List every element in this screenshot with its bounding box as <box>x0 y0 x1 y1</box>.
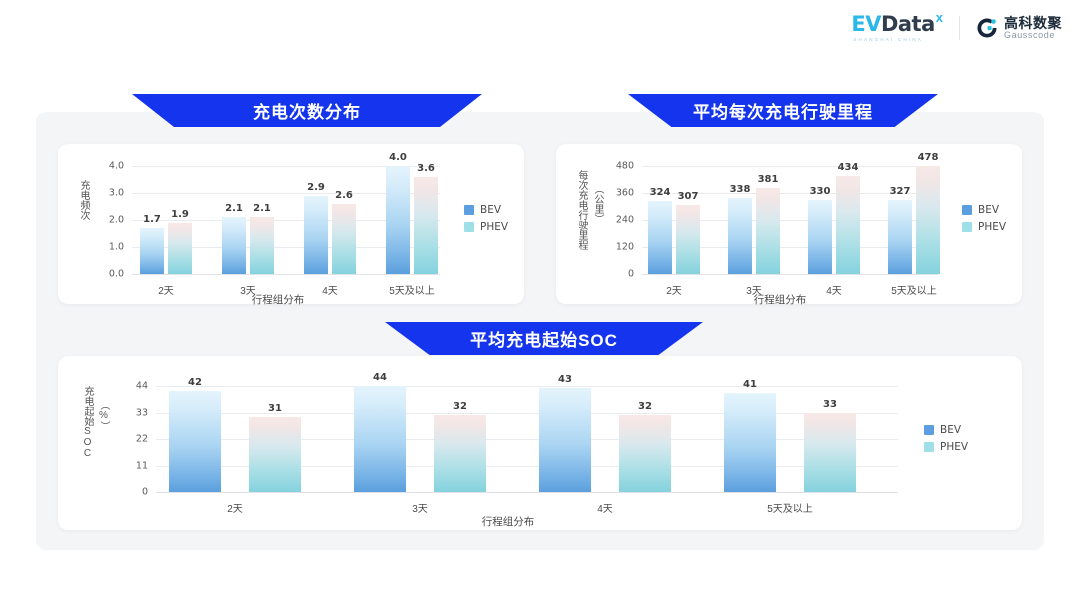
bar-bev[interactable] <box>354 386 406 492</box>
bar-value-label: 4.0 <box>389 152 407 163</box>
bar-value-label: 327 <box>890 186 911 197</box>
bar-value-label: 2.1 <box>253 203 271 214</box>
evdata-data-text: Data <box>881 12 935 36</box>
y-axis-label: 每次充电行驶里程（公里） <box>574 170 605 250</box>
legend-item-bev[interactable]: BEV <box>962 204 1006 216</box>
chart2-title-banner: 平均每次充电行驶里程 <box>628 94 938 127</box>
bar-bev[interactable] <box>648 201 672 274</box>
x-axis-tick: 2天 <box>158 282 174 297</box>
bar-bev[interactable] <box>140 228 164 274</box>
legend-swatch-phev-icon <box>464 222 474 232</box>
y-axis-label: 充电起始SOC（%） <box>80 386 111 459</box>
y-axis-tick: 120 <box>602 242 634 253</box>
bar-bev[interactable] <box>539 388 591 492</box>
legend-item-phev[interactable]: PHEV <box>924 441 968 453</box>
x-axis-tick: 2天 <box>227 500 243 515</box>
bar-value-label: 41 <box>743 379 757 390</box>
bar-phev[interactable] <box>804 413 856 493</box>
header-logos: EVData x shanghai china 高科数聚 Gausscode <box>851 14 1062 42</box>
x-axis-tick: 5天及以上 <box>891 282 937 297</box>
legend-label: BEV <box>940 424 961 436</box>
chart-legend: BEVPHEV <box>464 204 508 233</box>
legend-swatch-bev-icon <box>464 205 474 215</box>
y-axis-unit-text: （%） <box>96 400 111 459</box>
charging-frequency-chart: 充电频次0.01.02.03.04.01.71.92天2.12.13天2.92.… <box>58 144 524 304</box>
bar-value-label: 31 <box>268 403 282 414</box>
avg-start-soc-chart: 充电起始SOC（%）01122334442312天44323天43324天413… <box>58 356 1022 530</box>
bar-bev[interactable] <box>724 393 776 492</box>
gausscode-mark-icon <box>976 17 998 39</box>
chart1-title-banner: 充电次数分布 <box>132 94 482 127</box>
x-axis-label: 行程组分布 <box>252 292 305 307</box>
bar-value-label: 434 <box>838 162 859 173</box>
bar-value-label: 338 <box>730 184 751 195</box>
bar-phev[interactable] <box>756 188 780 274</box>
y-axis-tick: 360 <box>602 188 634 199</box>
evdata-wordmark: EVData x <box>851 14 943 35</box>
bar-value-label: 32 <box>453 401 467 412</box>
bar-phev[interactable] <box>619 415 671 492</box>
x-axis-tick: 5天及以上 <box>767 500 813 515</box>
y-axis-tick: 22 <box>116 434 148 445</box>
y-axis-tick: 240 <box>602 215 634 226</box>
evdata-word: EVData <box>851 14 934 35</box>
bar-phev[interactable] <box>414 177 438 274</box>
bar-phev[interactable] <box>916 166 940 274</box>
bar-value-label: 1.9 <box>171 209 189 220</box>
gausscode-logo: 高科数聚 Gausscode <box>976 16 1062 40</box>
legend-swatch-phev-icon <box>924 442 934 452</box>
evdata-tagline: shanghai china <box>853 37 923 42</box>
bar-bev[interactable] <box>888 200 912 274</box>
y-axis-tick: 1.0 <box>92 242 124 253</box>
y-axis-tick: 0 <box>602 269 634 280</box>
y-axis-tick: 480 <box>602 161 634 172</box>
x-axis-tick: 3天 <box>412 500 428 515</box>
logo-divider <box>959 16 960 40</box>
bar-value-label: 478 <box>918 152 939 163</box>
legend-swatch-phev-icon <box>962 222 972 232</box>
y-axis-tick: 0 <box>116 487 148 498</box>
chart1-card: 充电频次0.01.02.03.04.01.71.92天2.12.13天2.92.… <box>58 144 524 304</box>
bar-phev[interactable] <box>332 204 356 274</box>
bar-value-label: 2.9 <box>307 182 325 193</box>
legend-label: BEV <box>480 204 501 216</box>
bar-phev[interactable] <box>836 176 860 274</box>
chart-legend: BEVPHEV <box>924 424 968 453</box>
legend-swatch-bev-icon <box>962 205 972 215</box>
legend-item-bev[interactable]: BEV <box>924 424 968 436</box>
legend-label: PHEV <box>978 221 1006 233</box>
x-axis-tick: 4天 <box>597 500 613 515</box>
legend-item-bev[interactable]: BEV <box>464 204 508 216</box>
bar-phev[interactable] <box>676 205 700 274</box>
evdata-superscript-x: x <box>936 10 943 25</box>
bar-value-label: 3.6 <box>417 163 435 174</box>
y-axis-tick: 4.0 <box>92 161 124 172</box>
evdata-logo: EVData x shanghai china <box>851 14 943 42</box>
bar-value-label: 32 <box>638 401 652 412</box>
bar-value-label: 307 <box>678 191 699 202</box>
x-axis-line <box>642 274 938 275</box>
evdata-ev-text: EV <box>851 12 881 36</box>
x-axis-label: 行程组分布 <box>482 514 535 529</box>
bar-bev[interactable] <box>386 166 410 274</box>
y-axis-label: 充电频次 <box>76 180 91 220</box>
y-axis-label-text: 每次充电行驶里程 <box>574 170 589 250</box>
legend-item-phev[interactable]: PHEV <box>464 221 508 233</box>
y-axis-tick: 0.0 <box>92 269 124 280</box>
gridline <box>156 386 898 387</box>
bar-phev[interactable] <box>250 217 274 274</box>
bar-bev[interactable] <box>169 391 221 492</box>
bar-bev[interactable] <box>808 200 832 274</box>
legend-item-phev[interactable]: PHEV <box>962 221 1006 233</box>
gausscode-cn-name: 高科数聚 <box>1004 16 1062 31</box>
x-axis-tick: 4天 <box>826 282 842 297</box>
bar-value-label: 33 <box>823 399 837 410</box>
legend-swatch-bev-icon <box>924 425 934 435</box>
y-axis-label-text: 充电频次 <box>76 180 91 220</box>
bar-value-label: 330 <box>810 186 831 197</box>
bar-value-label: 43 <box>558 374 572 385</box>
x-axis-line <box>156 492 898 493</box>
bar-value-label: 42 <box>188 377 202 388</box>
chart-legend: BEVPHEV <box>962 204 1006 233</box>
bar-value-label: 324 <box>650 187 671 198</box>
chart2-card: 每次充电行驶里程（公里）01202403604803243072天3383813… <box>556 144 1022 304</box>
gausscode-text: 高科数聚 Gausscode <box>1004 16 1062 40</box>
gridline <box>642 166 938 167</box>
x-axis-label: 行程组分布 <box>754 292 807 307</box>
gausscode-en-name: Gausscode <box>1004 31 1062 40</box>
bar-bev[interactable] <box>222 217 246 274</box>
bar-value-label: 1.7 <box>143 214 161 225</box>
bar-bev[interactable] <box>728 198 752 274</box>
bar-bev[interactable] <box>304 196 328 274</box>
y-axis-tick: 3.0 <box>92 188 124 199</box>
x-axis-line <box>132 274 440 275</box>
chart3-title-banner: 平均充电起始SOC <box>385 322 703 355</box>
y-axis-tick: 33 <box>116 407 148 418</box>
y-axis-tick: 44 <box>116 381 148 392</box>
bar-value-label: 44 <box>373 372 387 383</box>
bar-value-label: 2.6 <box>335 190 353 201</box>
bar-phev[interactable] <box>434 415 486 492</box>
legend-label: BEV <box>978 204 999 216</box>
x-axis-tick: 5天及以上 <box>389 282 435 297</box>
y-axis-tick: 11 <box>116 460 148 471</box>
chart3-card: 充电起始SOC（%）01122334442312天44323天43324天413… <box>58 356 1022 530</box>
avg-distance-chart: 每次充电行驶里程（公里）01202403604803243072天3383813… <box>556 144 1022 304</box>
bar-phev[interactable] <box>249 417 301 492</box>
x-axis-tick: 2天 <box>666 282 682 297</box>
bar-value-label: 2.1 <box>225 203 243 214</box>
legend-label: PHEV <box>480 221 508 233</box>
legend-label: PHEV <box>940 441 968 453</box>
x-axis-tick: 4天 <box>322 282 338 297</box>
bar-phev[interactable] <box>168 223 192 274</box>
y-axis-label-text: 充电起始SOC <box>80 386 95 459</box>
y-axis-tick: 2.0 <box>92 215 124 226</box>
bar-value-label: 381 <box>758 174 779 185</box>
